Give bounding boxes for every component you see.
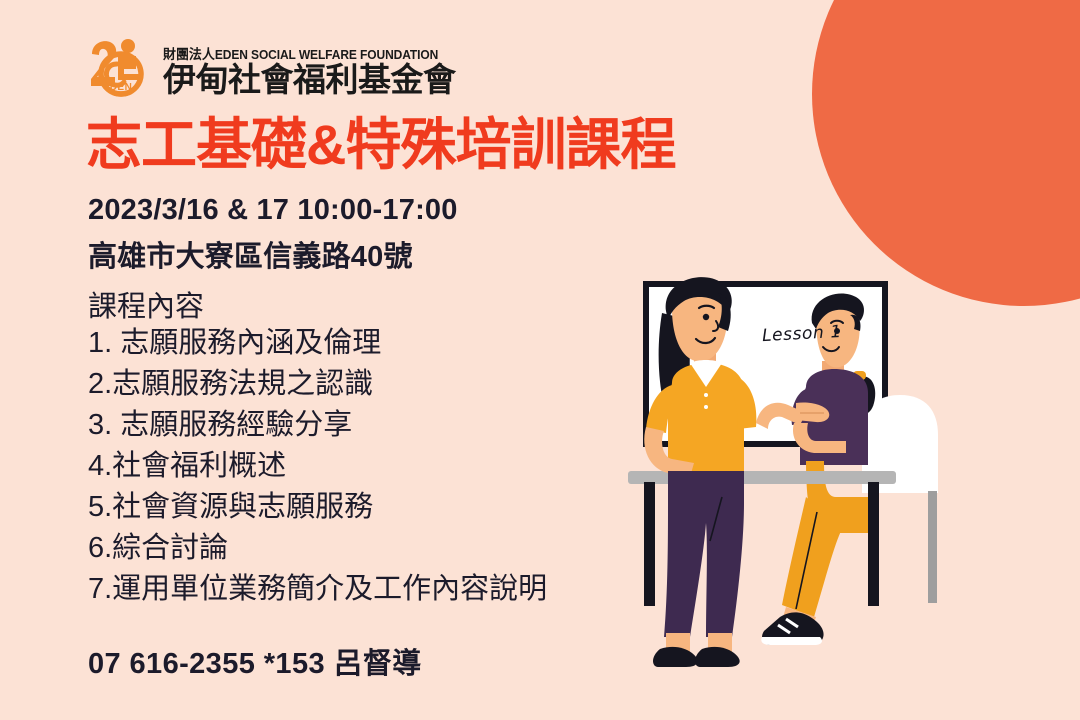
logo-zh-prefix: 財團法人: [163, 47, 215, 62]
list-item: 4.社會福利概述: [88, 446, 547, 487]
list-item: 7.運用單位業務簡介及工作內容說明: [88, 569, 547, 610]
list-item: 1. 志願服務內涵及倫理: [88, 323, 547, 364]
poster-headline: 志工基礎&特殊培訓課程: [86, 114, 675, 176]
svg-text:DEN: DEN: [110, 82, 133, 93]
course-content-list: 1. 志願服務內涵及倫理 2.志願服務法規之認識 3. 志願服務經驗分享 4.社…: [88, 323, 547, 610]
classroom-illustration: [610, 265, 1080, 685]
event-datetime: 2023/3/16 & 17 10:00-17:00: [88, 194, 458, 227]
logo-en-text: EDEN SOCIAL WELFARE FOUNDATION: [215, 48, 438, 62]
organization-logo: DEN 財團法人EDEN SOCIAL WELFARE FOUNDATION 伊…: [88, 36, 456, 98]
poster-canvas: DEN 財團法人EDEN SOCIAL WELFARE FOUNDATION 伊…: [0, 0, 1080, 720]
course-content-heading: 課程內容: [88, 283, 204, 325]
logo-chinese-name: 伊甸社會福利基金會: [163, 63, 456, 97]
list-item: 3. 志願服務經驗分享: [88, 405, 547, 446]
eden-wheelchair-logo-icon: DEN: [88, 36, 156, 98]
logo-english-name: 財團法人EDEN SOCIAL WELFARE FOUNDATION: [163, 48, 444, 62]
whiteboard-lesson-label: Lesson 1: [762, 322, 843, 346]
list-item: 2.志願服務法規之認識: [88, 364, 547, 405]
event-address: 高雄市大寮區信義路40號: [88, 233, 413, 275]
list-item: 5.社會資源與志願服務: [88, 487, 547, 528]
list-item: 6.綜合討論: [88, 528, 547, 569]
decorative-circle: [812, 0, 1080, 306]
contact-phone: 07 616-2355 *153 呂督導: [88, 640, 422, 682]
